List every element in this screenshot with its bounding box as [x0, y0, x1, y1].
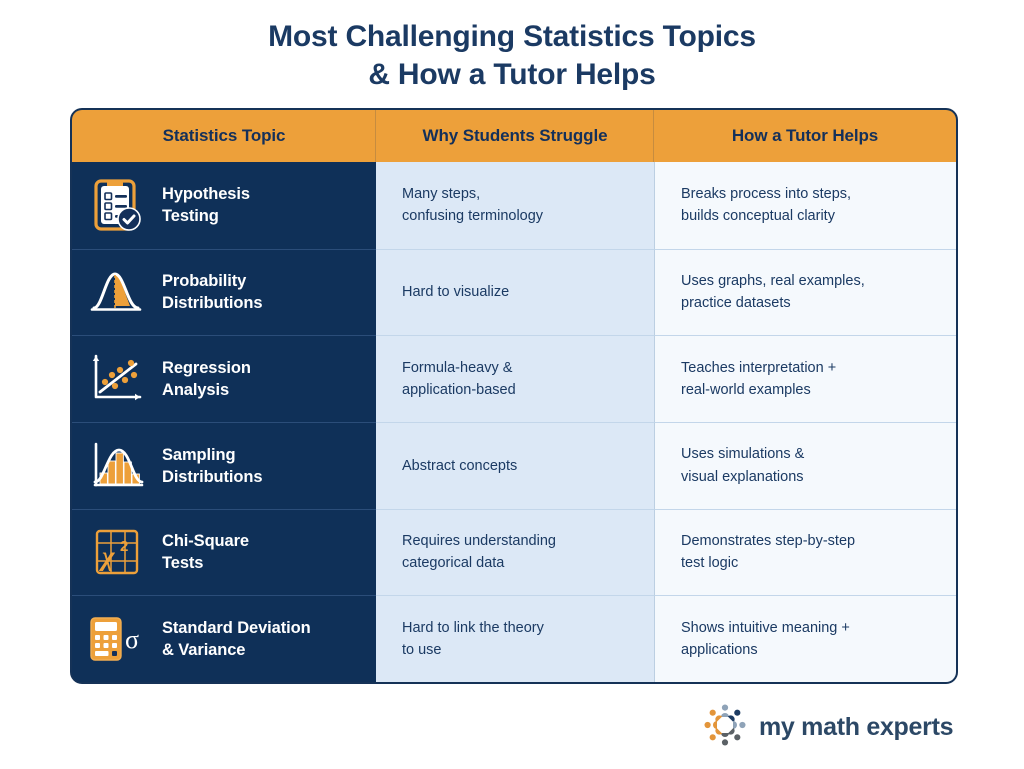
struggle-line-1: Requires understanding [402, 530, 556, 552]
page-title-line-2: & How a Tutor Helps [0, 56, 1024, 94]
topic-line-1: Regression [162, 357, 251, 379]
table-row: σ Standard Deviation & Variance [72, 595, 376, 682]
table-row: χ 2 Chi-Square Tests [72, 509, 376, 596]
topic-line-2: & Variance [162, 639, 311, 661]
table-row: Hypothesis Testing [72, 162, 376, 249]
topic-label: Chi-Square Tests [162, 530, 249, 575]
struggle-line-1: Hard to link the theory [402, 617, 544, 639]
help-line-2: visual explanations [681, 466, 804, 488]
column-header-how-a-tutor-helps: How a Tutor Helps [654, 110, 956, 162]
table-row: Probability Distributions [72, 249, 376, 336]
topic-line-2: Distributions [162, 292, 262, 314]
clipboard-checklist-icon [86, 174, 148, 236]
topic-line-1: Probability [162, 270, 262, 292]
help-cell: Teaches interpretation + real-world exam… [654, 335, 956, 422]
help-cell: Shows intuitive meaning + applications [654, 595, 956, 682]
help-cell: Demonstrates step-by-step test logic [654, 509, 956, 596]
struggle-cell: Abstract concepts [376, 422, 654, 509]
table-row: Regression Analysis [72, 335, 376, 422]
help-line-2: test logic [681, 552, 855, 574]
table-row: Sampling Distributions [72, 422, 376, 509]
brand-logo: my math experts [701, 702, 953, 753]
help-cell: Breaks process into steps, builds concep… [654, 162, 956, 249]
help-line-2: builds conceptual clarity [681, 205, 851, 227]
help-line-1: Demonstrates step-by-step [681, 530, 855, 552]
page-title: Most Challenging Statistics Topics & How… [0, 18, 1024, 95]
topic-line-1: Hypothesis [162, 183, 250, 205]
scatter-regression-icon [86, 348, 148, 410]
svg-text:χ: χ [98, 541, 115, 571]
brand-name: my math experts [759, 713, 953, 742]
struggle-line-1: Many steps, [402, 183, 543, 205]
bell-curve-icon [86, 261, 148, 323]
struggle-cell: Requires understanding categorical data [376, 509, 654, 596]
column-header-statistics-topic: Statistics Topic [72, 110, 376, 162]
topic-line-1: Chi-Square [162, 530, 249, 552]
svg-text:σ: σ [125, 625, 139, 654]
topic-label: Sampling Distributions [162, 444, 262, 489]
topic-line-1: Standard Deviation [162, 617, 311, 639]
help-cell: Uses graphs, real examples, practice dat… [654, 249, 956, 336]
topic-line-2: Distributions [162, 466, 262, 488]
topic-label: Probability Distributions [162, 270, 262, 315]
topic-line-2: Tests [162, 552, 249, 574]
struggle-cell: Hard to visualize [376, 249, 654, 336]
topic-label: Standard Deviation & Variance [162, 617, 311, 662]
help-line-1: Uses graphs, real examples, [681, 270, 865, 292]
svg-text:2: 2 [120, 538, 128, 555]
struggle-line-1: Abstract concepts [402, 455, 517, 477]
calculator-sigma-icon: σ [86, 608, 148, 670]
histogram-curve-icon [86, 435, 148, 497]
help-line-2: practice datasets [681, 292, 865, 314]
struggle-line-2: to use [402, 639, 544, 661]
struggle-cell: Hard to link the theory to use [376, 595, 654, 682]
help-line-1: Breaks process into steps, [681, 183, 851, 205]
help-line-1: Shows intuitive meaning + [681, 617, 850, 639]
struggle-line-2: application-based [402, 379, 516, 401]
column-header-why-students-struggle: Why Students Struggle [376, 110, 654, 162]
struggle-line-1: Hard to visualize [402, 281, 509, 303]
topic-line-2: Analysis [162, 379, 251, 401]
help-line-2: applications [681, 639, 850, 661]
table-grid: Statistics Topic Why Students Struggle H… [72, 110, 956, 682]
struggle-line-1: Formula-heavy & [402, 357, 516, 379]
comparison-table: Statistics Topic Why Students Struggle H… [70, 108, 958, 684]
topic-line-1: Sampling [162, 444, 262, 466]
struggle-cell: Formula-heavy & application-based [376, 335, 654, 422]
page-title-line-1: Most Challenging Statistics Topics [0, 18, 1024, 56]
help-line-1: Uses simulations & [681, 443, 804, 465]
topic-label: Regression Analysis [162, 357, 251, 402]
struggle-line-2: confusing terminology [402, 205, 543, 227]
people-pinwheel-icon [701, 702, 749, 753]
help-line-1: Teaches interpretation + [681, 357, 836, 379]
topic-label: Hypothesis Testing [162, 183, 250, 228]
struggle-line-2: categorical data [402, 552, 556, 574]
help-line-2: real-world examples [681, 379, 836, 401]
topic-line-2: Testing [162, 205, 250, 227]
chi-square-grid-icon: χ 2 [86, 521, 148, 583]
struggle-cell: Many steps, confusing terminology [376, 162, 654, 249]
help-cell: Uses simulations & visual explanations [654, 422, 956, 509]
